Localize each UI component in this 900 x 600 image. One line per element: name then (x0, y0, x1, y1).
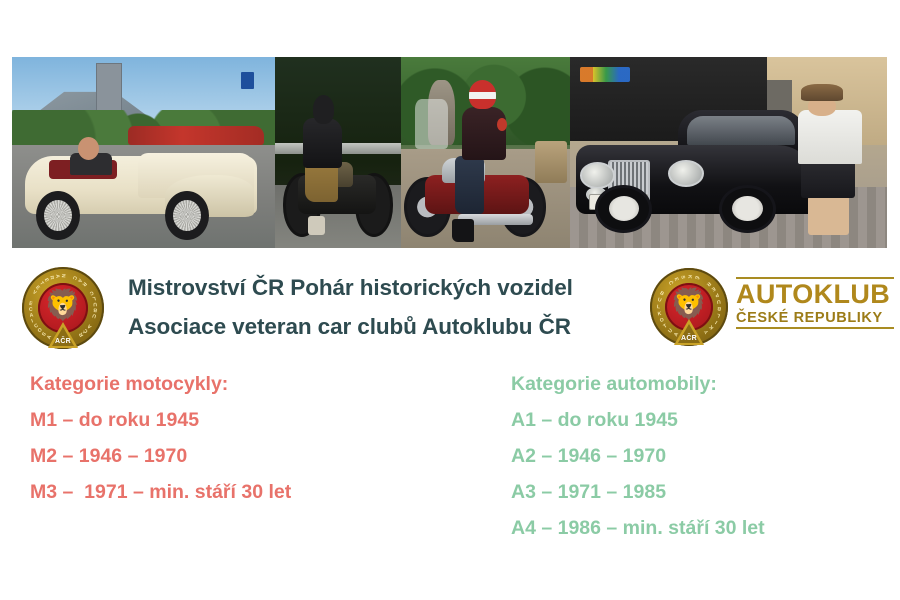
parking-sign (241, 72, 254, 89)
page-title: Mistrovství ČR Pohár historických vozide… (128, 268, 638, 346)
autoklub-emblem: AUTOKLUB ČESKÉ REPUBLIKY 🦁 AČR (650, 268, 728, 346)
avcc-emblem: ASOCIACE VETERAN CAR CLUBU AČR 🦁 AČR (22, 267, 104, 349)
motorcycles-heading: Kategorie motocykly: (30, 366, 291, 402)
photo-black-mercedes (570, 57, 887, 248)
autoklub-main-text: AUTOKLUB (736, 279, 894, 309)
emblem-triangle-label: AČR (681, 335, 697, 342)
mercedes-front-wheel (595, 185, 652, 233)
tower-shape (96, 63, 122, 116)
mercedes-rear-wheel (719, 185, 776, 233)
rider-legs (455, 156, 484, 213)
title-line-2: Asociace veteran car clubů Autoklubu ČR (128, 307, 638, 346)
autoklub-logo: AUTOKLUB ČESKÉ REPUBLIKY 🦁 AČR AUTOKLUB … (650, 265, 895, 353)
bystander-torso (798, 110, 861, 163)
automobile-class-a2: A2 – 1946 – 1970 (511, 438, 765, 474)
category-column-motorcycles: Kategorie motocykly: M1 – do roku 1945 M… (30, 366, 291, 510)
mercedes-headlamp-right (668, 160, 704, 187)
rider-boot (452, 219, 474, 242)
wordmark-rule-bottom (736, 327, 894, 329)
czech-lion-icon: 🦁 (44, 291, 81, 321)
rider-helmet (313, 95, 334, 124)
automobile-class-a1: A1 – do roku 1945 (511, 402, 765, 438)
background-red-cars (128, 126, 265, 145)
photo-vintage-roadster (12, 57, 275, 248)
rider-torso (303, 118, 342, 168)
header-row: ASOCIACE VETERAN CAR CLUBU AČR 🦁 AČR Mis… (0, 262, 900, 358)
mercedes-windscreen (687, 116, 795, 145)
photo-black-motorcycle (275, 57, 401, 248)
motorcycle-class-m1: M1 – do roku 1945 (30, 402, 291, 438)
rider-torso (462, 107, 506, 160)
saddlebag (535, 141, 567, 183)
title-line-1: Mistrovství ČR Pohár historických vozide… (128, 268, 638, 307)
emblem-triangle-label: AČR (55, 338, 71, 345)
bystander-shorts (801, 160, 855, 198)
automobile-class-a3: A3 – 1971 – 1985 (511, 474, 765, 510)
driver-head (78, 137, 99, 160)
bystander-legs (808, 196, 849, 234)
mercedes-headlamp-left (580, 162, 616, 189)
czech-lion-icon: 🦁 (670, 290, 707, 320)
windscreen (415, 99, 449, 149)
photo-red-motorcycle (401, 57, 570, 248)
rider-helmet (469, 80, 496, 109)
rider-boot (308, 216, 326, 235)
autoklub-wordmark: AUTOKLUB ČESKÉ REPUBLIKY (736, 277, 894, 329)
category-column-automobiles: Kategorie automobily: A1 – do roku 1945 … (511, 366, 765, 546)
sponsor-banner-logo (580, 67, 631, 82)
automobiles-heading: Kategorie automobily: (511, 366, 765, 402)
autoklub-sub-text: ČESKÉ REPUBLIKY (736, 309, 894, 327)
event-photo-strip (12, 57, 887, 248)
motorcycle-class-m2: M2 – 1946 – 1970 (30, 438, 291, 474)
automobile-class-a4: A4 – 1986 – min. stáří 30 let (511, 510, 765, 546)
bystander-hat (801, 84, 842, 101)
motorcycle-class-m3: M3 – 1971 – min. stáří 30 let (30, 474, 291, 510)
